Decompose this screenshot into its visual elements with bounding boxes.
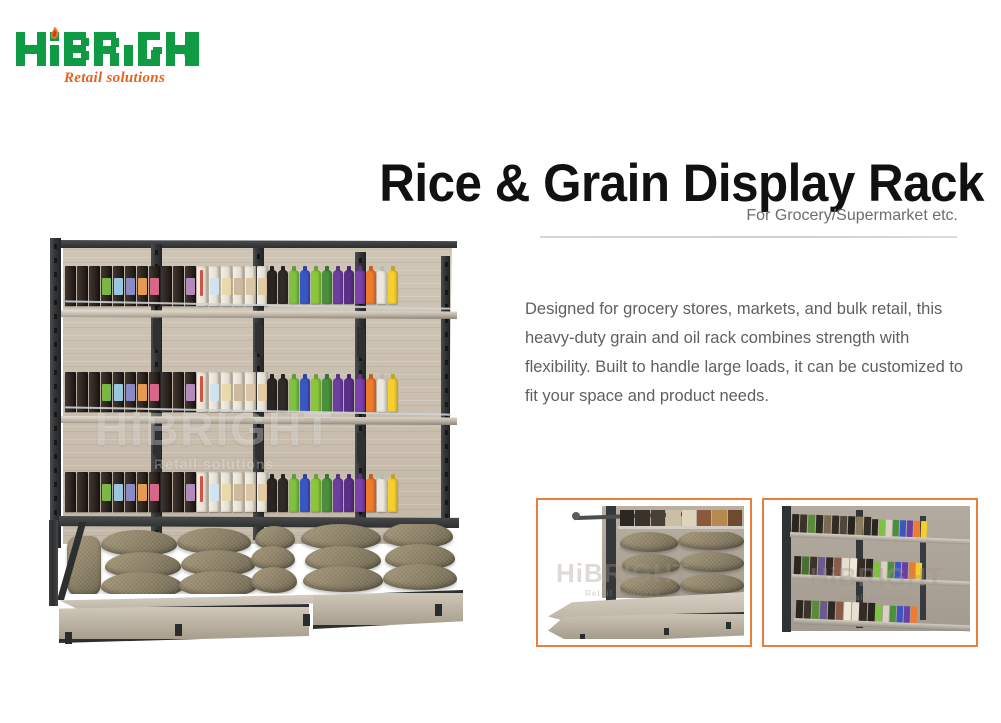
page-subtitle: For Grocery/Supermarket etc. [540, 207, 958, 225]
header-divider [540, 236, 957, 238]
logo-wordmark: ® [14, 26, 214, 70]
product-row-bottles [267, 478, 398, 512]
logo-tagline: Retail solutions [64, 70, 165, 87]
thumbnail-corner-detail[interactable]: HiBRIGHT Retail solutions [536, 498, 752, 647]
product-row-bottles [267, 270, 398, 304]
rack-upright [50, 238, 61, 548]
grain-sack [303, 566, 383, 592]
flame-icon [51, 27, 58, 39]
registered-mark: ® [184, 50, 191, 61]
brand-logo: ® Retail solutions [14, 26, 214, 96]
main-product-image: HiBRIGHT Retail solutions [35, 232, 485, 664]
page-title: Rice & Grain Display Rack [322, 154, 984, 214]
grain-sack [101, 572, 183, 594]
product-row-bottles [267, 378, 398, 412]
product-row [65, 472, 268, 512]
thumbnail-watermark: HiBRIGHT Retail solutions [810, 562, 944, 602]
product-description: Designed for grocery stores, markets, an… [525, 295, 977, 411]
grain-sack [251, 567, 297, 593]
grain-sack [179, 571, 257, 594]
thumbnail-watermark: HiBRIGHT Retail solutions [556, 558, 690, 598]
base-platform-face [59, 604, 309, 643]
thumbnail-angled-view[interactable]: HiBRIGHT Retail solutions [762, 498, 978, 647]
grain-sack [383, 564, 457, 590]
hibright-logo-icon [14, 26, 200, 72]
rack-upright [441, 256, 450, 528]
